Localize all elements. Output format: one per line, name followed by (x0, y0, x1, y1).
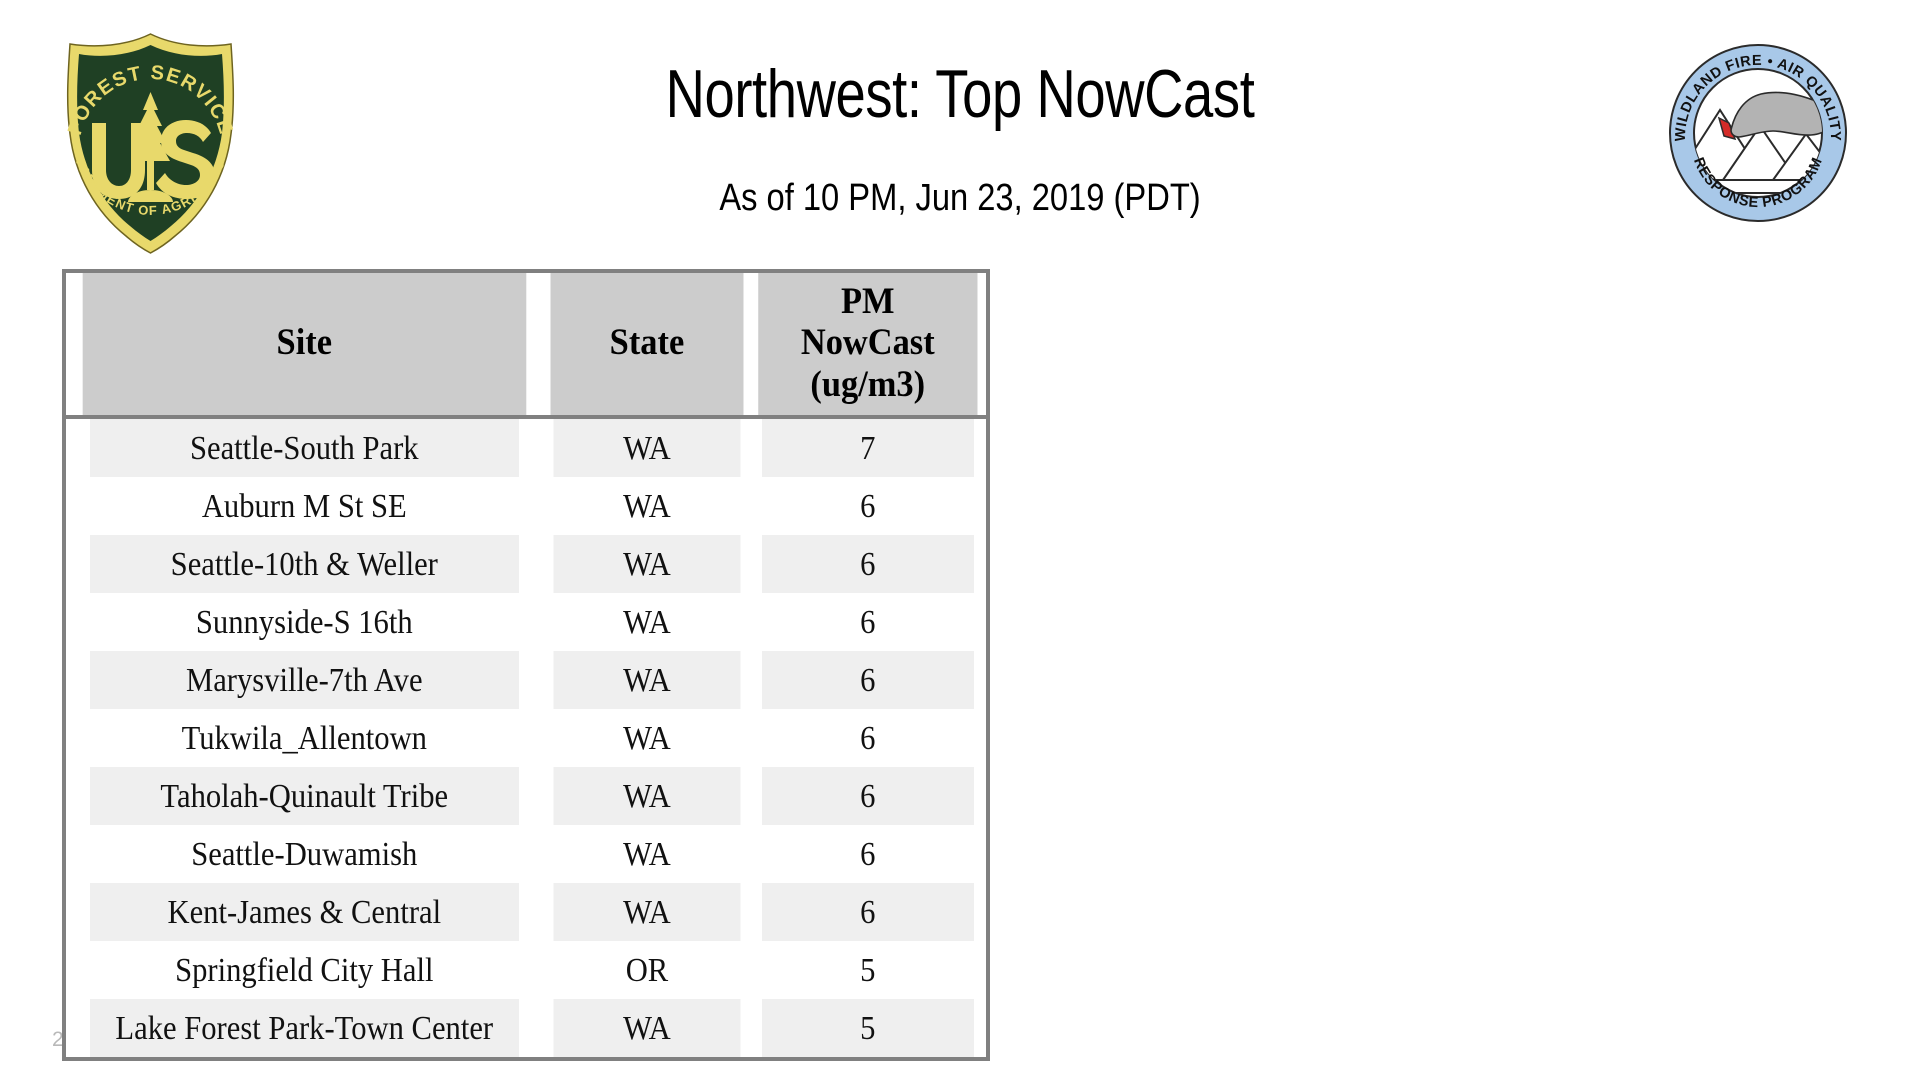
cell-site: Seattle-Duwamish (90, 825, 519, 883)
cell-pm-nowcast: 6 (762, 883, 974, 941)
cell-state: WA (553, 999, 740, 1057)
cell-site: Marysville-7th Ave (90, 651, 519, 709)
cell-site: Taholah-Quinault Tribe (90, 767, 519, 825)
cell-state: WA (553, 477, 740, 535)
nowcast-table: Site State PM NowCast (ug/m3) Seattle-So… (66, 273, 986, 1057)
table-header-row: Site State PM NowCast (ug/m3) (66, 273, 986, 417)
table-row: Auburn M St SEWA6 (66, 477, 986, 535)
cell-state: WA (553, 883, 740, 941)
column-header-state: State (550, 273, 743, 417)
column-header-pm-line1: PM (841, 281, 895, 322)
cell-pm-nowcast: 6 (762, 477, 974, 535)
column-header-pm-line3: (ug/m3) (811, 364, 926, 405)
column-header-site-label: Site (277, 322, 332, 363)
cell-site: Sunnyside-S 16th (90, 593, 519, 651)
cell-pm-nowcast: 5 (762, 941, 974, 999)
cell-site: Lake Forest Park-Town Center (90, 999, 519, 1057)
column-header-pm-line2: NowCast (801, 322, 935, 363)
table-row: Lake Forest Park-Town CenterWA5 (66, 999, 986, 1057)
cell-site: Springfield City Hall (90, 941, 519, 999)
table-header: Site State PM NowCast (ug/m3) (66, 273, 986, 417)
cell-pm-nowcast: 6 (762, 767, 974, 825)
cell-state: WA (553, 709, 740, 767)
cell-state: OR (553, 941, 740, 999)
cell-state: WA (553, 767, 740, 825)
table-row: Taholah-Quinault TribeWA6 (66, 767, 986, 825)
cell-site: Tukwila_Allentown (90, 709, 519, 767)
cell-state: WA (553, 417, 740, 477)
table-row: Seattle-South ParkWA7 (66, 417, 986, 477)
column-header-pm-nowcast: PM NowCast (ug/m3) (759, 273, 978, 417)
cell-pm-nowcast: 5 (762, 999, 974, 1057)
table-row: Sunnyside-S 16thWA6 (66, 593, 986, 651)
table-row: Seattle-10th & WellerWA6 (66, 535, 986, 593)
cell-state: WA (553, 825, 740, 883)
cell-pm-nowcast: 6 (762, 535, 974, 593)
table-row: Tukwila_AllentownWA6 (66, 709, 986, 767)
cell-site: Seattle-10th & Weller (90, 535, 519, 593)
page-title: Northwest: Top NowCast (432, 58, 1488, 130)
column-header-state-label: State (609, 322, 684, 363)
cell-state: WA (553, 651, 740, 709)
cell-site: Seattle-South Park (90, 417, 519, 477)
cell-state: WA (553, 593, 740, 651)
cell-pm-nowcast: 6 (762, 593, 974, 651)
table-row: Springfield City HallOR5 (66, 941, 986, 999)
cell-pm-nowcast: 7 (762, 417, 974, 477)
table-row: Seattle-DuwamishWA6 (66, 825, 986, 883)
table-body: Seattle-South ParkWA7Auburn M St SEWA6Se… (66, 417, 986, 1057)
table-row: Kent-James & CentralWA6 (66, 883, 986, 941)
cell-site: Auburn M St SE (90, 477, 519, 535)
cell-pm-nowcast: 6 (762, 825, 974, 883)
cell-pm-nowcast: 6 (762, 709, 974, 767)
nowcast-table-container: Site State PM NowCast (ug/m3) Seattle-So… (62, 269, 990, 1061)
page-subtitle: As of 10 PM, Jun 23, 2019 (PDT) (392, 178, 1527, 220)
wildland-fire-air-quality-seal-icon: WILDLAND FIRE • AIR QUALITY RESPONSE PRO… (1663, 38, 1853, 228)
slide-canvas: 2019-06-24 0500 UTC FOREST SERVICE (0, 0, 1920, 1080)
cell-state: WA (553, 535, 740, 593)
cell-site: Kent-James & Central (90, 883, 519, 941)
forest-service-shield-icon: FOREST SERVICE DEPARTMENT OF AGRICULTURE (48, 30, 253, 260)
column-header-site: Site (83, 273, 526, 417)
cell-pm-nowcast: 6 (762, 651, 974, 709)
table-row: Marysville-7th AveWA6 (66, 651, 986, 709)
